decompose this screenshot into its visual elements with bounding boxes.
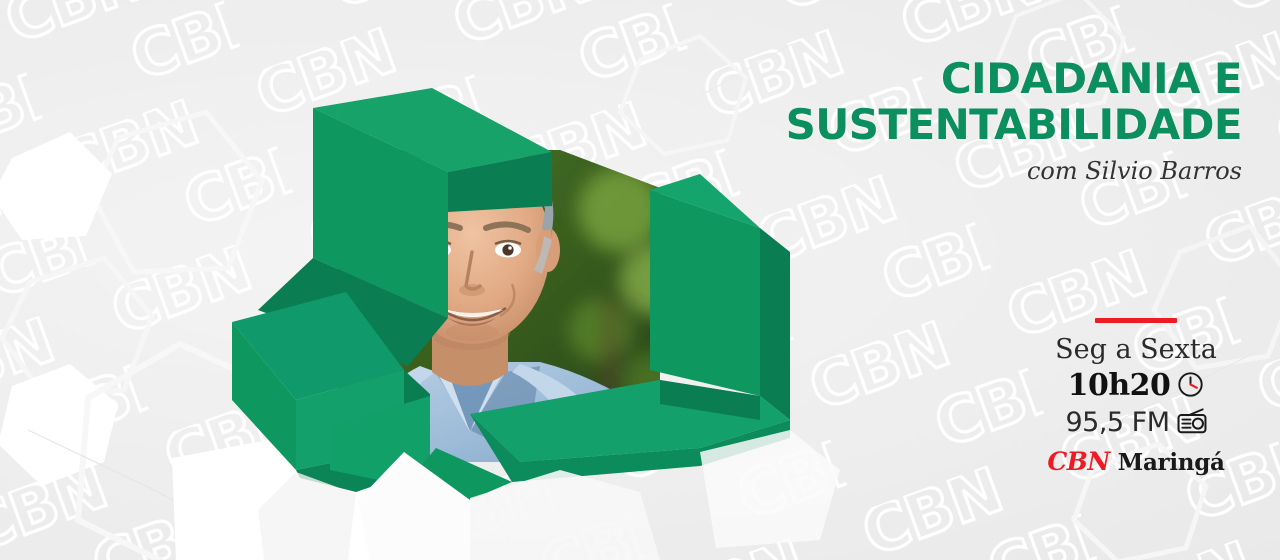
station-city-name: Maringá — [1118, 450, 1225, 476]
station-network-name: CBN — [1047, 449, 1109, 475]
schedule-info-block: Seg a Sexta 10h20 95,5 FM — [1036, 318, 1236, 476]
red-divider-rule — [1095, 318, 1177, 323]
radio-icon — [1177, 408, 1207, 438]
program-title-line-2: SUSTENTABILIDADE — [786, 102, 1242, 148]
clock-icon — [1177, 371, 1204, 402]
program-host-credit: com Silvio Barros — [786, 157, 1242, 185]
program-banner: CBN CBN — [0, 0, 1280, 560]
schedule-time: 10h20 — [1068, 369, 1171, 403]
schedule-days: Seg a Sexta — [1036, 335, 1236, 365]
schedule-frequency-row: 95,5 FM — [1036, 407, 1236, 438]
schedule-frequency: 95,5 FM — [1065, 407, 1169, 438]
schedule-time-row: 10h20 — [1036, 369, 1236, 403]
program-title-line-1: CIDADANIA E — [786, 56, 1242, 102]
program-title-block: CIDADANIA E SUSTENTABILIDADE com Silvio … — [786, 56, 1242, 185]
station-logo: CBN Maringá — [1036, 449, 1236, 476]
